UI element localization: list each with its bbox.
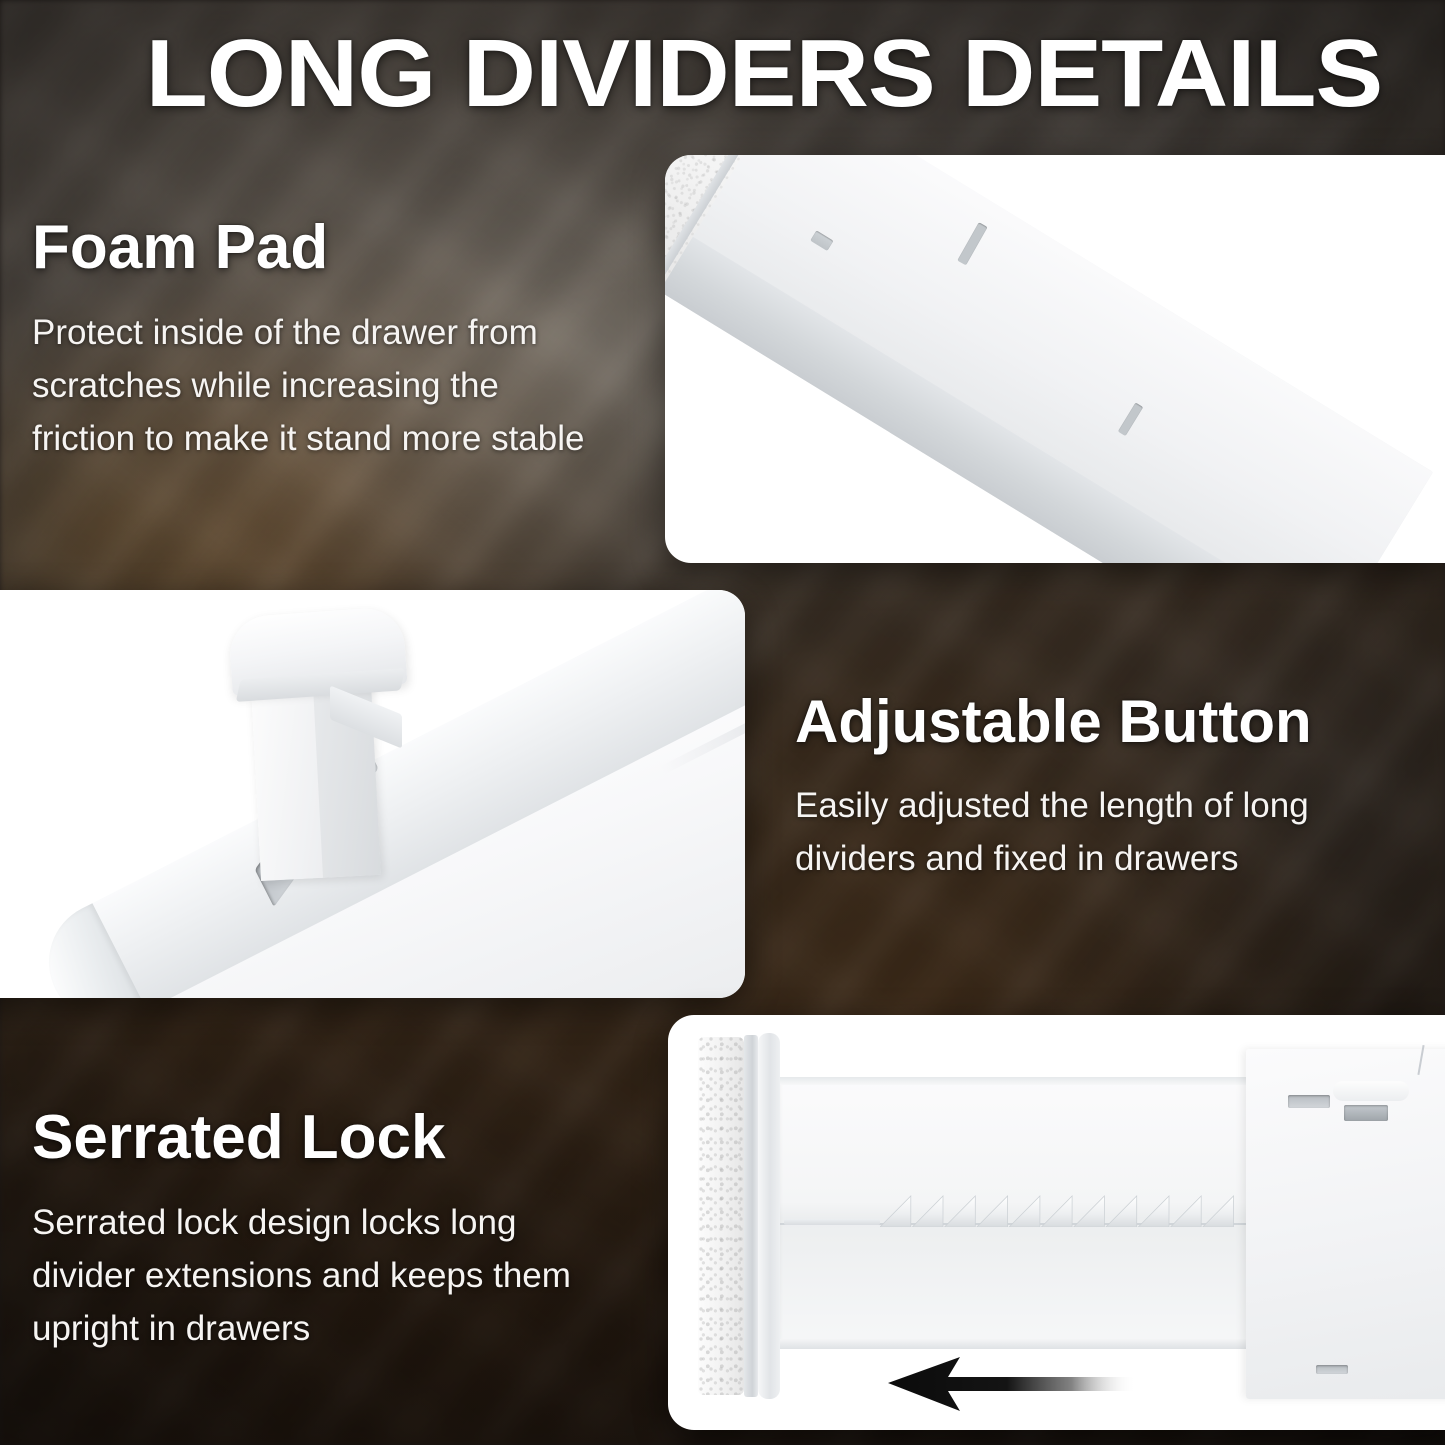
divider-end-cap bbox=[758, 1033, 780, 1399]
feature-body: Serrated lock design locks long divider … bbox=[32, 1196, 662, 1356]
feature-serrated-lock: Serrated Lock Serrated lock design locks… bbox=[32, 1105, 662, 1356]
extension-tab bbox=[1333, 1081, 1409, 1101]
feature-foam-pad: Foam Pad Protect inside of the drawer fr… bbox=[32, 215, 652, 466]
inner-rail-top-edge bbox=[780, 1077, 1250, 1085]
adjustable-button-photo-panel bbox=[0, 590, 745, 998]
serrated-lock-illustration bbox=[668, 1015, 1445, 1430]
extension-notch bbox=[1316, 1365, 1348, 1374]
foam-pad-photo-panel bbox=[665, 155, 1445, 563]
infographic-root: LONG DIVIDERS DETAILS bbox=[0, 0, 1445, 1445]
left-arrow-icon bbox=[886, 1355, 1136, 1411]
feature-heading: Adjustable Button bbox=[795, 690, 1415, 753]
feature-body-line: divider extensions and keeps them bbox=[32, 1249, 662, 1302]
feature-body-line: upright in drawers bbox=[32, 1302, 662, 1355]
foam-pad-strip bbox=[698, 1037, 744, 1395]
feature-heading: Serrated Lock bbox=[32, 1105, 662, 1170]
extension-notch bbox=[1288, 1095, 1330, 1108]
serrated-teeth bbox=[880, 1195, 1235, 1227]
feature-body: Easily adjusted the length of long divid… bbox=[795, 779, 1415, 885]
feature-body-line: friction to make it stand more stable bbox=[32, 412, 652, 465]
feature-adjustable-button: Adjustable Button Easily adjusted the le… bbox=[795, 690, 1415, 885]
feature-body-line: Protect inside of the drawer from bbox=[32, 306, 652, 359]
extension-notch bbox=[1344, 1105, 1388, 1121]
divider-rail-end-cap bbox=[28, 903, 147, 998]
feature-body-line: Easily adjusted the length of long bbox=[795, 779, 1415, 832]
inner-rail-stub bbox=[784, 1219, 880, 1225]
feature-body: Protect inside of the drawer from scratc… bbox=[32, 306, 652, 466]
feature-heading: Foam Pad bbox=[32, 215, 652, 280]
feature-body-line: dividers and fixed in drawers bbox=[795, 832, 1415, 885]
feature-body-line: Serrated lock design locks long bbox=[32, 1196, 662, 1249]
feature-body-line: scratches while increasing the bbox=[32, 359, 652, 412]
serrated-lock-photo-panel bbox=[668, 1015, 1445, 1430]
page-title: LONG DIVIDERS DETAILS bbox=[32, 26, 1445, 122]
inner-rail-bottom-edge bbox=[780, 1339, 1250, 1349]
adjustable-button-illustration bbox=[0, 590, 745, 998]
divider-outer-extension bbox=[1246, 1049, 1445, 1399]
foam-pad-strip-edge bbox=[744, 1035, 758, 1397]
divider-board bbox=[665, 155, 1433, 563]
foam-pad-illustration bbox=[665, 155, 1445, 563]
divider-inner-rail bbox=[780, 1077, 1250, 1349]
